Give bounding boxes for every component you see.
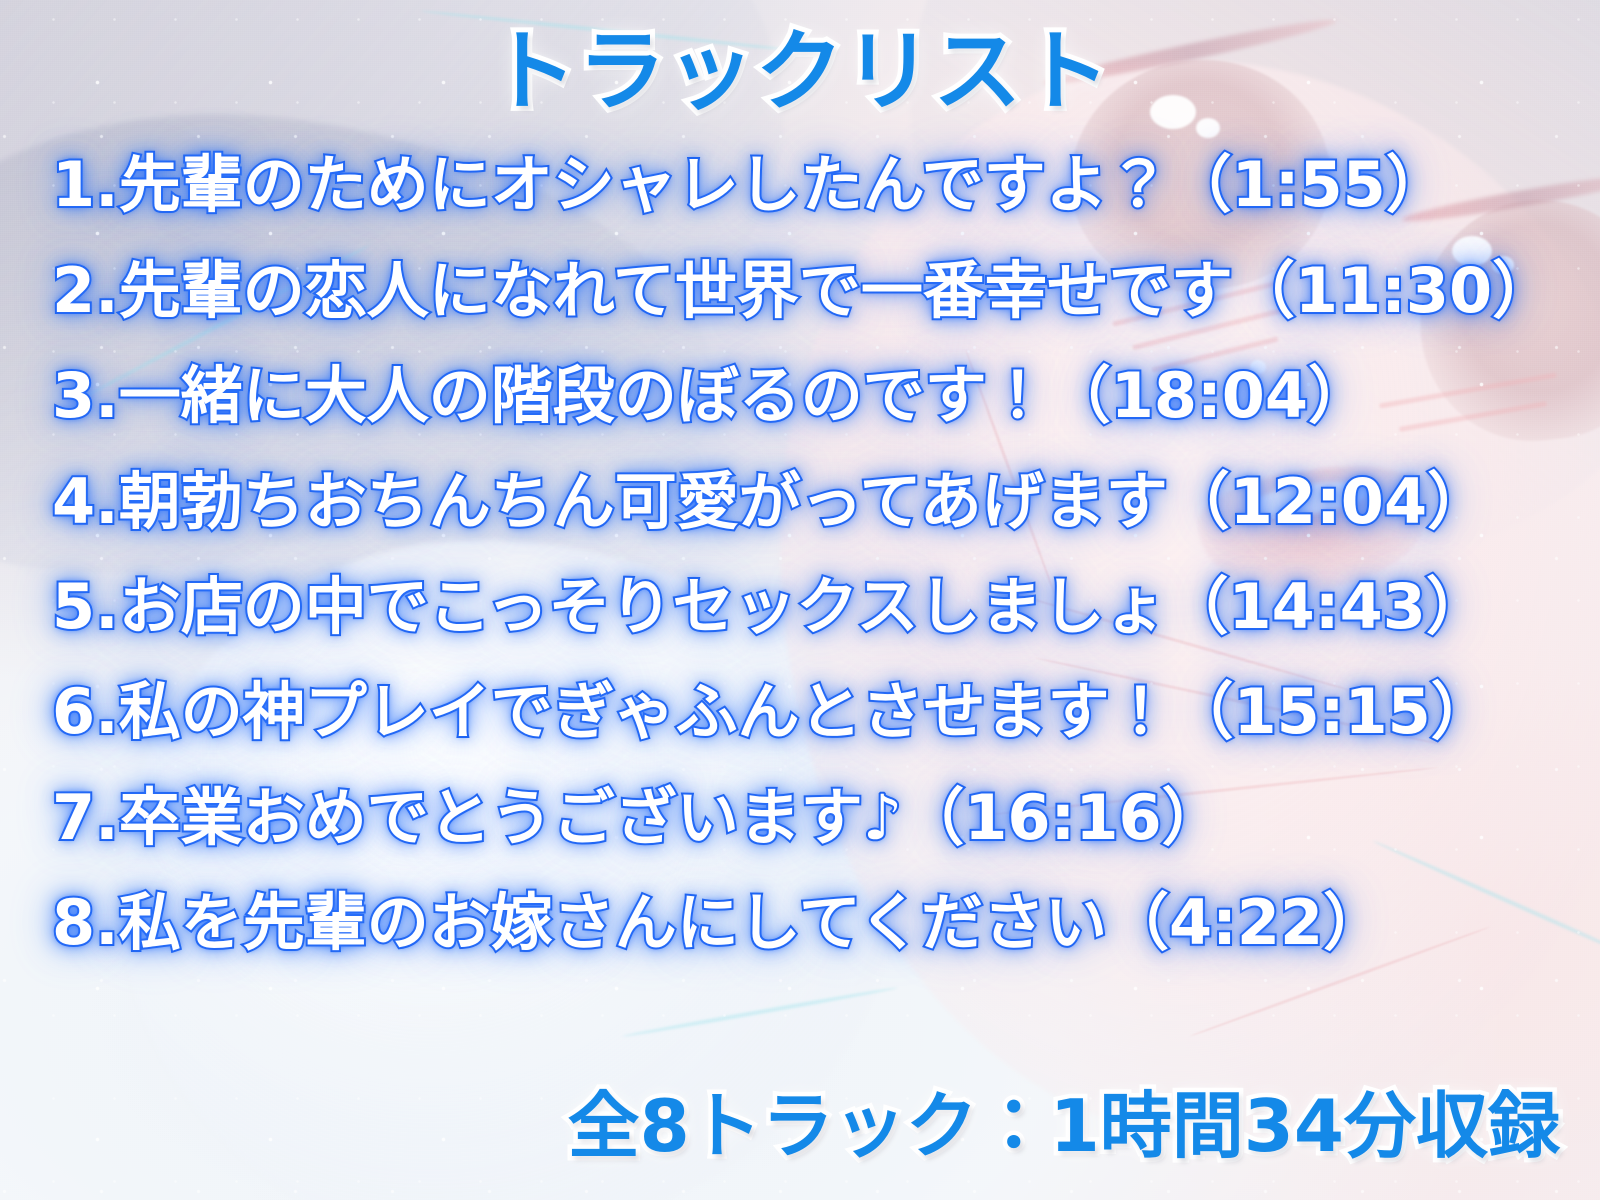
track-row-8: 8.私を先輩のお嫁さんにしてください（4:22） [52,870,1570,975]
track-row-3: 3.一緒に大人の階段のぼるのです！（18:04） [52,343,1570,448]
track-row-5: 5.お店の中でこっそりセックスしましょ（14:43） [52,554,1570,659]
page-title: トラックリスト [0,26,1600,118]
track-row-6: 6.私の神プレイでぎゃふんとさせます！（15:15） [52,659,1570,764]
total-runtime-summary: 全8トラック：1時間34分収録 [0,1087,1600,1166]
track-row-7: 7.卒業おめでとうございます♪（16:16） [52,765,1570,870]
poster-content: トラックリスト 1.先輩のためにオシャレしたんですよ？（1:55） 2.先輩の恋… [0,0,1600,1200]
tracklist-poster: トラックリスト 1.先輩のためにオシャレしたんですよ？（1:55） 2.先輩の恋… [0,0,1600,1200]
track-row-2: 2.先輩の恋人になれて世界で一番幸せです（11:30） [52,238,1570,343]
track-row-4: 4.朝勃ちおちんちん可愛がってあげます（12:04） [52,449,1570,554]
tracklist: 1.先輩のためにオシャレしたんですよ？（1:55） 2.先輩の恋人になれて世界で… [0,132,1600,975]
track-row-1: 1.先輩のためにオシャレしたんですよ？（1:55） [52,132,1570,237]
